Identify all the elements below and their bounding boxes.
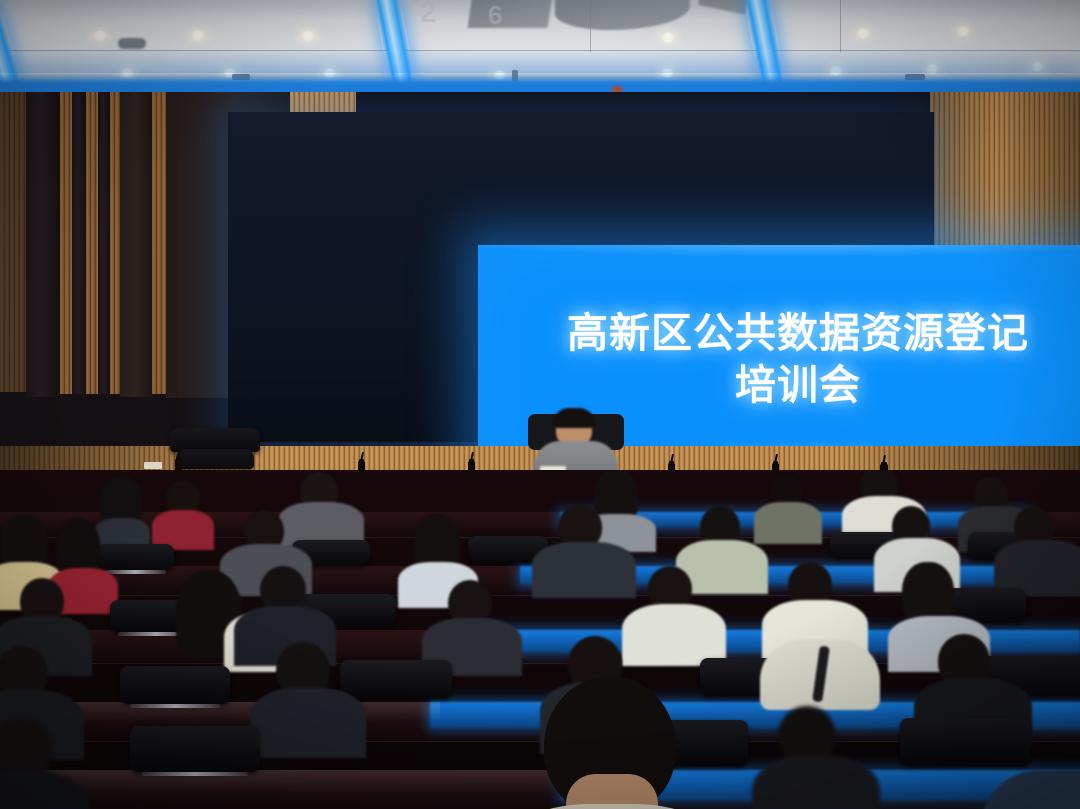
ceiling-logo-icon: 6: [488, 0, 502, 31]
wall-wood-slats: [0, 92, 26, 392]
wall-wood-slats: [86, 92, 98, 394]
wall-dark-column: [26, 92, 60, 397]
led-screen-bezel: 高新区公共数据资源登记 培训会 2025年9月23日: [228, 112, 934, 442]
wall-wood-slats: [110, 92, 120, 394]
slide-title-line2: 培训会: [478, 359, 1080, 411]
wall-dark-column: [72, 92, 86, 394]
audience-chair[interactable]: [96, 544, 174, 570]
ceiling-vent: [118, 38, 146, 49]
wall-wood-slats: [152, 92, 166, 394]
wall-wood-slats: [60, 92, 72, 394]
stage-chair-seat: [176, 449, 254, 469]
ceiling-downlight: [92, 30, 108, 41]
audience-area: 高新区公 培训: [0, 470, 1080, 809]
ceiling-logo-icon: 2: [420, 0, 437, 30]
ceiling-downlight: [190, 30, 206, 41]
stage-nameplate: [144, 462, 162, 469]
ceiling-seam: [0, 50, 1080, 51]
ceiling-downlight: [955, 26, 971, 37]
conference-hall-photo: 2 6: [0, 0, 1080, 809]
ceiling-downlight: [300, 30, 316, 41]
slide-title-line1: 高新区公共数据资源登记: [478, 307, 1080, 359]
audience-chair[interactable]: [340, 660, 452, 698]
ceiling-seam-vertical: [840, 0, 841, 52]
wall-dark-column: [120, 92, 152, 397]
audience-chair[interactable]: [130, 726, 260, 772]
ceiling-downlight: [1030, 62, 1045, 72]
ceiling-downlight: [660, 32, 676, 43]
audience-chair[interactable]: [900, 718, 1030, 766]
screen-glow: [478, 245, 1080, 257]
ceiling-panel-dark: [468, 0, 553, 28]
wall-dark-column: [98, 92, 110, 394]
chair-chrome-trim: [104, 570, 166, 574]
slide-title: 高新区公共数据资源登记 培训会: [478, 307, 1080, 412]
chair-chrome-trim: [130, 704, 220, 708]
chair-chrome-trim: [142, 772, 248, 776]
ceiling-downlight: [855, 28, 871, 39]
presenter-hair: [553, 408, 595, 428]
audience-chair[interactable]: [120, 666, 230, 704]
